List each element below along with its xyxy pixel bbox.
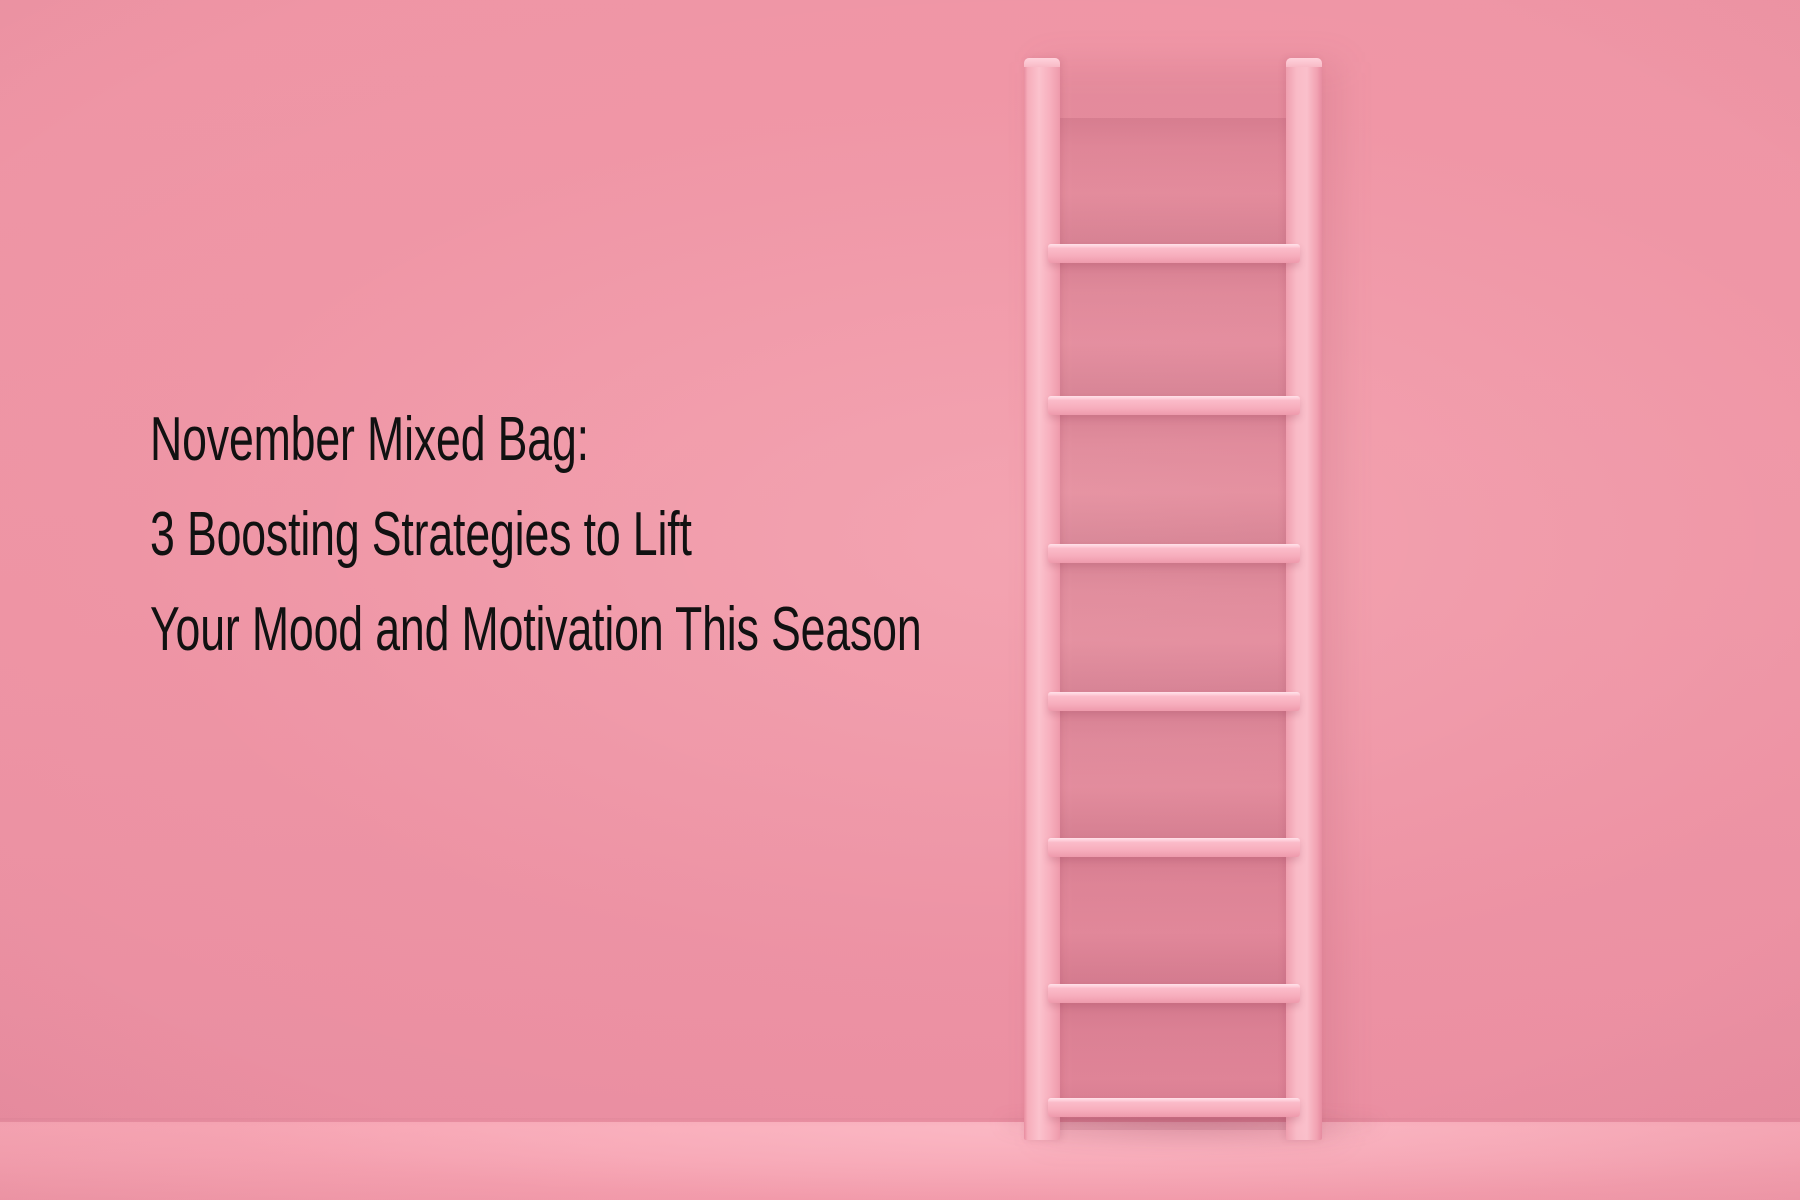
headline-block: November Mixed Bag: 3 Boosting Strategie… [150, 392, 769, 677]
ladder-recess [1054, 415, 1294, 544]
wall-floor-seam [0, 1118, 1800, 1127]
ladder-rung [1048, 1098, 1300, 1117]
ladder-right-rail [1286, 58, 1322, 1140]
ladder-recess [1054, 263, 1294, 396]
ladder-recess [1054, 857, 1294, 984]
floor-surface [0, 1122, 1800, 1200]
ladder-rail-cap [1024, 58, 1060, 67]
rung-highlight [1048, 244, 1300, 248]
pink-ladder [1018, 58, 1330, 1140]
ladder-rung [1048, 984, 1300, 1003]
headline-line-2: 3 Boosting Strategies to Lift [150, 487, 769, 582]
rung-highlight [1048, 838, 1300, 842]
banner-canvas: November Mixed Bag: 3 Boosting Strategie… [0, 0, 1800, 1200]
rung-highlight [1048, 984, 1300, 988]
rung-highlight [1048, 544, 1300, 548]
ladder-recess [1054, 711, 1294, 838]
ladder-rung [1048, 544, 1300, 563]
ladder-rung [1048, 244, 1300, 263]
rung-highlight [1048, 1098, 1300, 1102]
ladder-rung [1048, 396, 1300, 415]
ladder-recess [1054, 563, 1294, 692]
rung-highlight [1048, 692, 1300, 696]
ladder-recess [1054, 118, 1294, 244]
rung-highlight [1048, 396, 1300, 400]
ladder-left-rail [1024, 58, 1060, 1140]
headline-line-1: November Mixed Bag: [150, 392, 769, 487]
ladder-rung [1048, 838, 1300, 857]
ladder-rung [1048, 692, 1300, 711]
ladder-rail-cap [1286, 58, 1322, 67]
headline-line-3: Your Mood and Motivation This Season [150, 582, 769, 677]
